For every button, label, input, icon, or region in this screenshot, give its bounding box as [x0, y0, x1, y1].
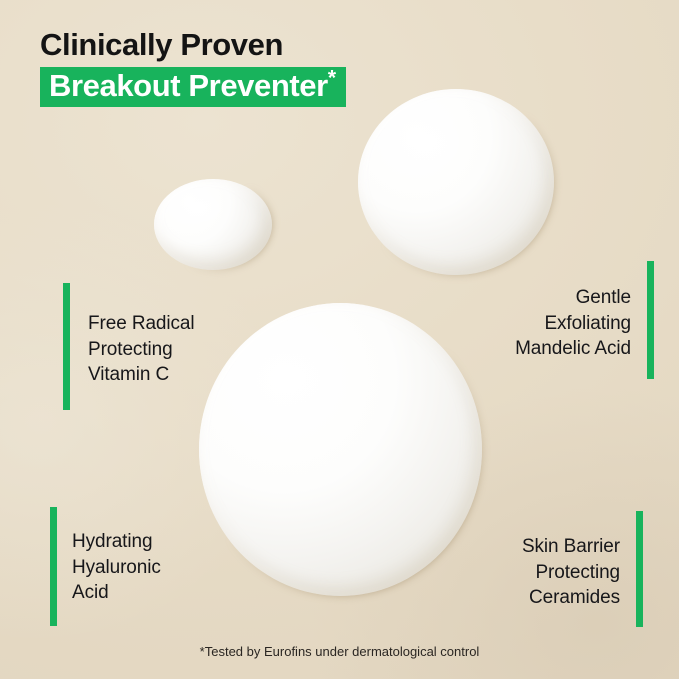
callout-label-vitamin-c: Free Radical Protecting Vitamin C	[88, 311, 195, 388]
droplet-rim-highlight	[154, 179, 272, 270]
droplet-rim-highlight	[199, 303, 482, 596]
headline-line-2-text: Breakout Preventer	[49, 68, 328, 103]
bracket-stem	[63, 283, 70, 410]
serum-droplet-medium	[358, 89, 554, 275]
droplet-gloss-highlight	[233, 332, 346, 426]
headline-block: Clinically Proven Breakout Preventer*	[40, 26, 600, 107]
callout-label-mandelic-acid: Gentle Exfoliating Mandelic Acid	[515, 285, 631, 362]
droplet-gloss-highlight	[171, 191, 225, 226]
bracket-stem	[647, 261, 654, 379]
headline-line-2-highlighted: Breakout Preventer*	[40, 67, 346, 107]
callout-label-hyaluronic-acid: Hydrating Hyaluronic Acid	[72, 529, 161, 606]
droplet-rim-highlight	[358, 89, 554, 275]
headline-asterisk: *	[328, 67, 336, 90]
headline-line-1: Clinically Proven	[40, 26, 600, 64]
headline-highlight-wrap: Breakout Preventer*	[40, 67, 346, 107]
bracket-stem	[636, 511, 643, 627]
droplet-gloss-highlight	[383, 111, 465, 174]
serum-droplet-small	[154, 179, 272, 270]
footnote-disclaimer: *Tested by Eurofins under dermatological…	[0, 644, 679, 659]
serum-droplet-large	[199, 303, 482, 596]
product-claims-poster: Clinically Proven Breakout Preventer* Fr…	[0, 0, 679, 679]
callout-label-ceramides: Skin Barrier Protecting Ceramides	[522, 534, 620, 611]
bracket-stem	[50, 507, 57, 626]
